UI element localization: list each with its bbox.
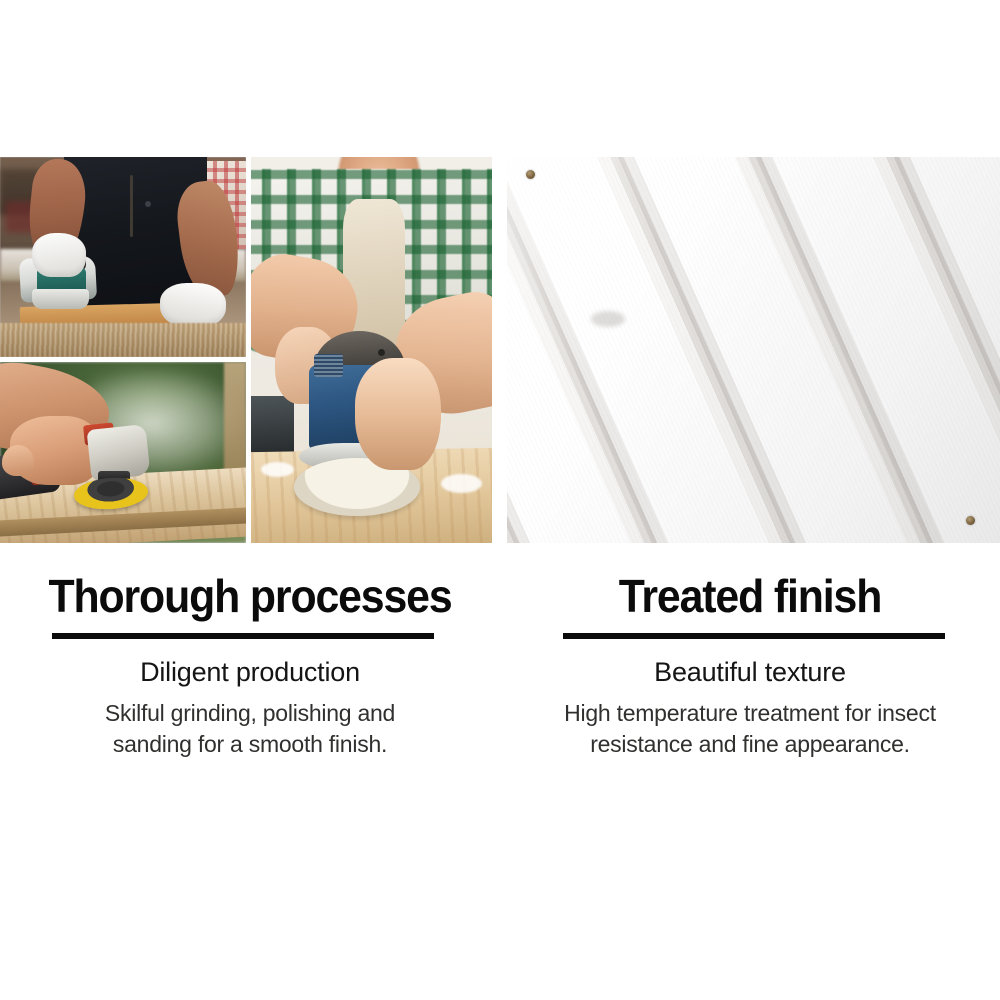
- white-slats-photo: [507, 157, 1000, 543]
- text-band: Thorough processes Diligent production S…: [0, 543, 1000, 760]
- feature-body-left: Skilful grinding, polishing and sanding …: [0, 689, 500, 760]
- screw-head-icon: [966, 516, 975, 525]
- media-band: [0, 157, 1000, 543]
- orbital-sander-photo: [251, 157, 492, 543]
- body-line: resistance and fine appearance.: [500, 729, 1000, 760]
- product-feature-page: Thorough processes Diligent production S…: [0, 0, 1000, 1000]
- screw-head-icon: [526, 170, 535, 179]
- left-work-glove: [32, 233, 86, 277]
- feature-body-right: High temperature treatment for insect re…: [500, 689, 1000, 760]
- left-image-collage: [0, 157, 246, 543]
- apron-stud: [145, 201, 151, 207]
- sander-apron-photo: [0, 157, 246, 357]
- tool-case: [251, 396, 294, 458]
- body-line: High temperature treatment for insect: [500, 698, 1000, 729]
- body-line: Skilful grinding, polishing and: [0, 698, 500, 729]
- feature-heading-right: Treated finish: [518, 543, 983, 621]
- sander-vents: [314, 354, 343, 377]
- feature-column-thorough-processes: Thorough processes Diligent production S…: [0, 543, 500, 760]
- feature-heading-left: Thorough processes: [18, 543, 483, 621]
- feature-subheading-right: Beautiful texture: [500, 639, 1000, 689]
- right-work-glove: [160, 283, 226, 327]
- body-line: sanding for a smooth finish.: [0, 729, 500, 760]
- sawdust-surface: [0, 323, 246, 357]
- feature-columns: Thorough processes Diligent production S…: [0, 543, 1000, 760]
- right-hand: [355, 358, 442, 470]
- feature-column-treated-finish: Treated finish Beautiful texture High te…: [500, 543, 1000, 760]
- feature-subheading-left: Diligent production: [0, 639, 500, 689]
- lighting-gradient: [507, 157, 1000, 543]
- sander-base-pad: [32, 289, 89, 309]
- background-post: [224, 362, 246, 474]
- angle-grinder-photo: [0, 362, 246, 543]
- sawdust-patch: [441, 474, 482, 493]
- thumb: [2, 445, 34, 476]
